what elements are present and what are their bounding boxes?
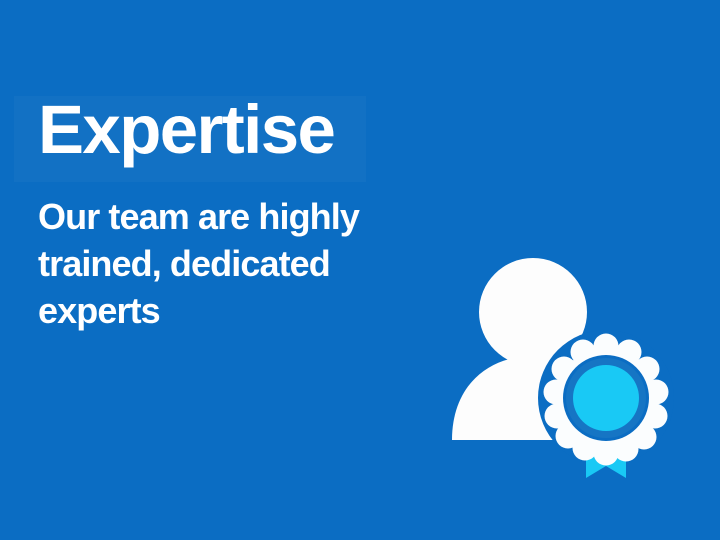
expertise-illustration bbox=[440, 246, 685, 491]
slide-canvas: Expertise Our team are highly trained, d… bbox=[0, 0, 720, 540]
page-subtitle: Our team are highly trained, dedicated e… bbox=[38, 164, 438, 334]
page-title: Expertise bbox=[38, 96, 468, 164]
text-content-block: Expertise Our team are highly trained, d… bbox=[38, 96, 468, 335]
